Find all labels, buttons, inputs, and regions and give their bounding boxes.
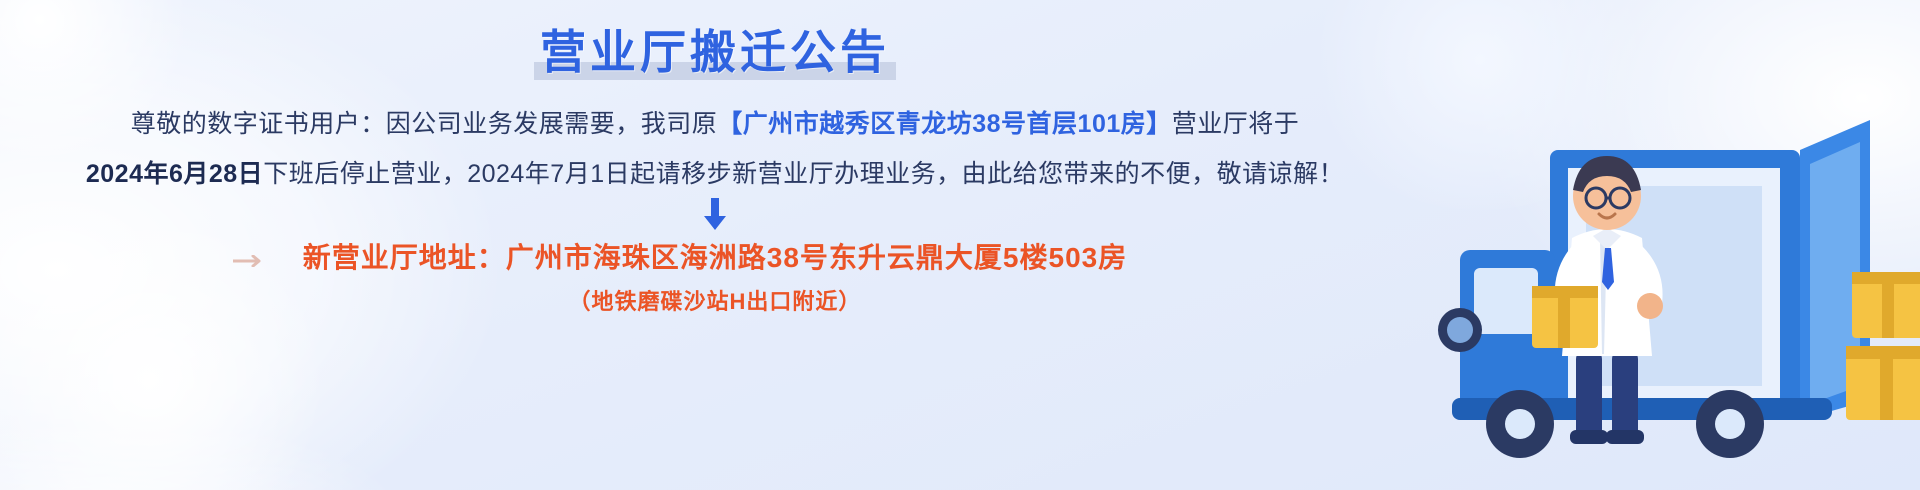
notice-line-1: 尊敬的数字证书用户：因公司业务发展需要，我司原【广州市越秀区青龙坊38号首层10… xyxy=(0,108,1430,142)
notice-line-2: 2024年6月28日下班后停止营业，2024年7月1日起请移步新营业厅办理业务，… xyxy=(0,158,1430,192)
notice-line-2-rest: 下班后停止营业，2024年7月1日起请移步新营业厅办理业务，由此给您带来的不便，… xyxy=(263,160,1344,188)
small-arrow-icon xyxy=(233,254,267,272)
arrow-down-icon xyxy=(700,198,730,237)
parcel-boxes-icon xyxy=(1846,272,1920,420)
new-address-text: 新营业厅地址：广州市海珠区海洲路38号东升云鼎大厦5楼503房 xyxy=(303,236,1127,276)
old-address-text: 【广州市越秀区青龙坊38号首层101房】 xyxy=(717,110,1172,138)
delivery-courier-truck-illustration xyxy=(1400,0,1920,490)
arrow-row xyxy=(0,198,1430,234)
new-address-subnote: （地铁磨碟沙站H出口附近） xyxy=(303,284,1127,316)
notice-line-1-prefix: 尊敬的数字证书用户：因公司业务发展需要，我司原 xyxy=(131,110,718,138)
close-date-text: 2024年6月28日 xyxy=(86,160,263,188)
notice-line-1-suffix: 营业厅将于 xyxy=(1172,110,1300,138)
page-title-wrap: 营业厅搬迁公告 xyxy=(540,24,890,82)
new-address-row: 新营业厅地址：广州市海珠区海洲路38号东升云鼎大厦5楼503房 （地铁磨碟沙站H… xyxy=(303,236,1127,316)
page-title: 营业厅搬迁公告 xyxy=(540,24,890,82)
notice-banner: 营业厅搬迁公告 尊敬的数字证书用户：因公司业务发展需要，我司原【广州市越秀区青龙… xyxy=(0,0,1920,490)
notice-content: 营业厅搬迁公告 尊敬的数字证书用户：因公司业务发展需要，我司原【广州市越秀区青龙… xyxy=(0,0,1430,490)
